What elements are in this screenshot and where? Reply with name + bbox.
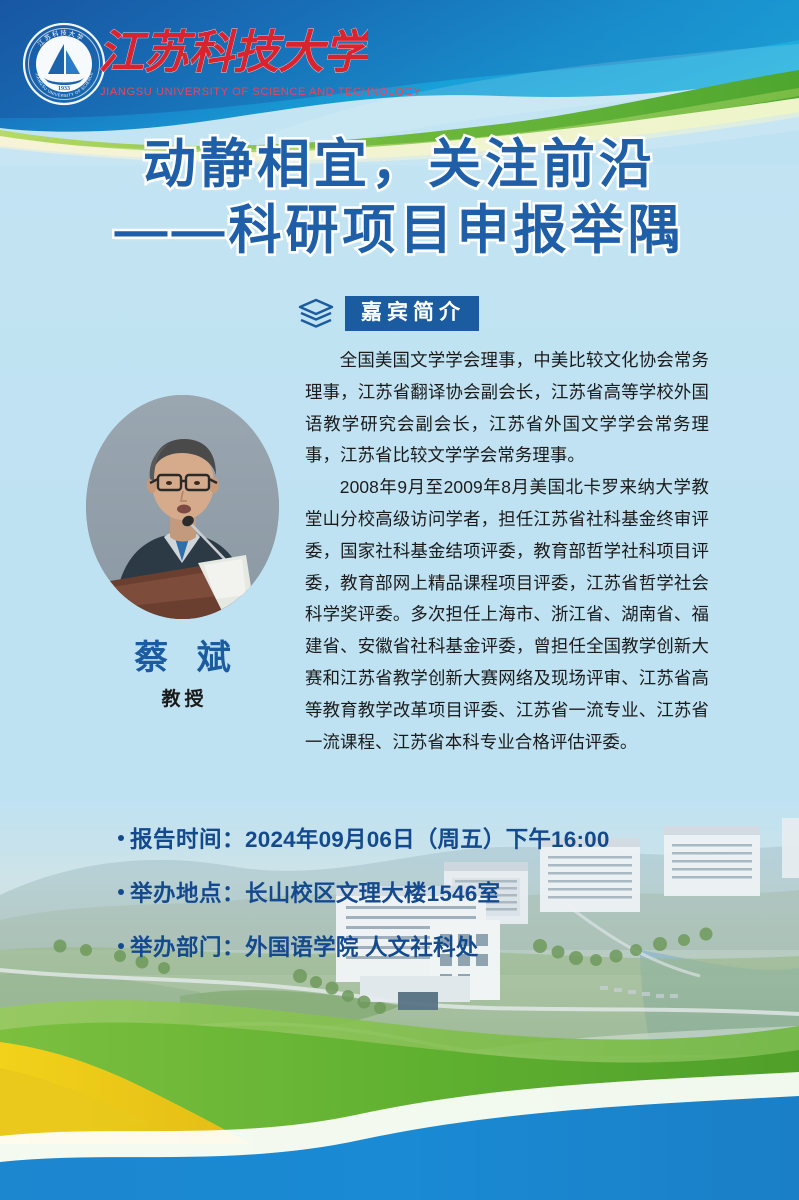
poster-root: 江苏科技大学 JIANGSU UNIVERSITY OF SCIENCE 193…: [0, 0, 799, 1200]
info-label-department: 举办部门：: [130, 930, 245, 962]
poster-title: 动静相宜，关注前沿 ——科研项目申报举隅: [0, 132, 799, 263]
speaker-portrait: [86, 395, 279, 619]
info-label-location: 举办地点：: [130, 876, 245, 908]
university-name-cn: 江苏科技大学: [98, 23, 368, 83]
info-value-department: 外国语学院 人文社科处: [245, 930, 478, 962]
info-line-time: 报告时间： 2024年09月06日（周五）下午16:00: [118, 822, 610, 854]
bio-paragraph-1: 全国美国文学学会理事，中美比较文化协会常务理事，江苏省翻译协会副会长，江苏省高等…: [305, 345, 709, 472]
svg-text:1933: 1933: [58, 86, 70, 92]
speaker-title: 教授: [86, 684, 279, 711]
svg-text:江苏科技大学: 江苏科技大学: [98, 27, 368, 78]
guest-bio: 全国美国文学学会理事，中美比较文化协会常务理事，江苏省翻译协会副会长，江苏省高等…: [305, 345, 709, 758]
university-logo: 江苏科技大学 JIANGSU UNIVERSITY OF SCIENCE 193…: [22, 22, 106, 106]
title-line-2: ——科研项目申报举隅: [0, 198, 799, 264]
bullet-icon: [118, 889, 124, 895]
stacked-layers-icon: [297, 297, 335, 331]
event-info: 报告时间： 2024年09月06日（周五）下午16:00 举办地点： 长山校区文…: [118, 822, 610, 984]
university-name-en: JIANGSU UNIVERSITY OF SCIENCE AND TECHNO…: [100, 86, 422, 98]
info-line-location: 举办地点： 长山校区文理大楼1546室: [118, 876, 610, 908]
info-line-department: 举办部门： 外国语学院 人文社科处: [118, 930, 610, 962]
bio-paragraph-2: 2008年9月至2009年8月美国北卡罗来纳大学教堂山分校高级访问学者，担任江苏…: [305, 472, 709, 758]
info-value-time: 2024年09月06日（周五）下午16:00: [245, 822, 610, 854]
section-badge-label: 嘉宾简介: [345, 296, 479, 331]
info-value-location: 长山校区文理大楼1546室: [245, 876, 500, 908]
bullet-icon: [118, 835, 124, 841]
title-line-1: 动静相宜，关注前沿: [0, 132, 799, 198]
speaker-name: 蔡 斌: [86, 630, 279, 679]
bullet-icon: [118, 943, 124, 949]
info-label-time: 报告时间：: [130, 822, 245, 854]
section-header-guest-intro: 嘉宾简介: [297, 296, 479, 331]
